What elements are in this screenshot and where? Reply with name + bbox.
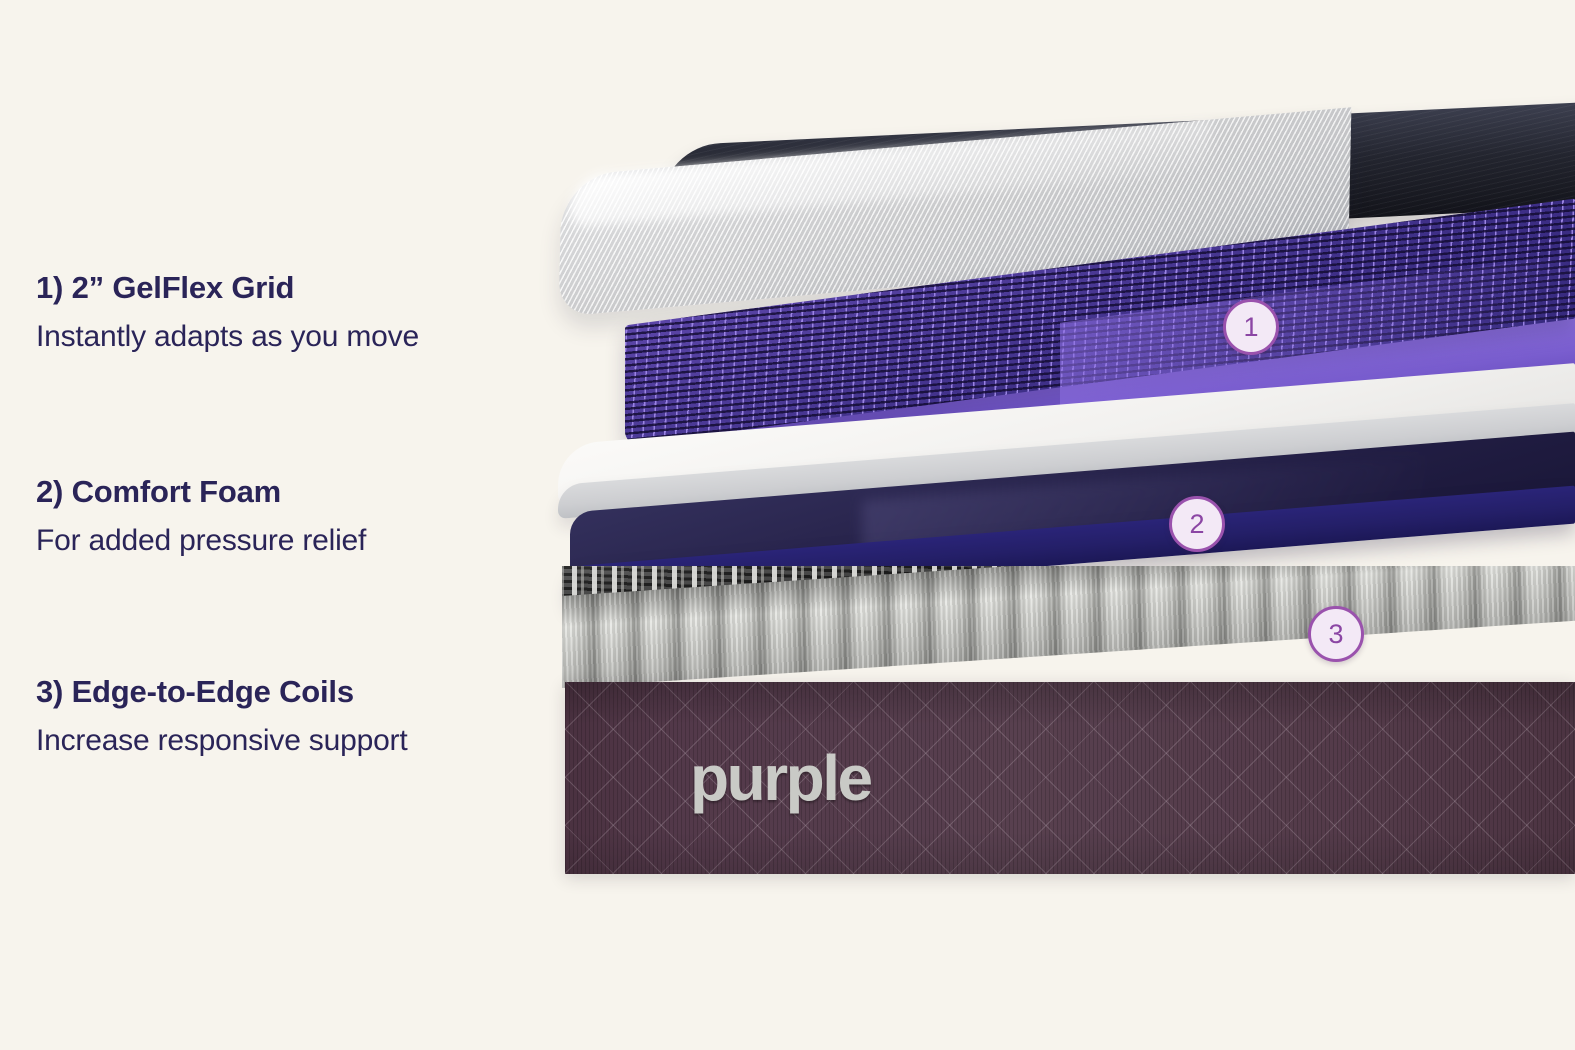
callout-badge-3[interactable]: 3 xyxy=(1308,606,1364,662)
mattress-base: purple xyxy=(565,682,1575,874)
mattress-layers-infographic: 1) 2” GelFlex Grid Instantly adapts as y… xyxy=(0,0,1575,1050)
layer-caption-3: 3) Edge-to-Edge Coils Increase responsiv… xyxy=(36,674,546,759)
layer-3-description: Increase responsive support xyxy=(36,723,546,759)
layer-2-title: 2) Comfort Foam xyxy=(36,474,546,511)
layer-1-description: Instantly adapts as you move xyxy=(36,319,546,355)
mattress-exploded-illustration: purple 1 2 3 xyxy=(540,0,1575,1050)
pocketed-coils-layer xyxy=(562,566,1575,688)
layer-caption-list: 1) 2” GelFlex Grid Instantly adapts as y… xyxy=(0,0,560,1050)
purple-brand-logo: purple xyxy=(690,746,871,810)
callout-badge-2[interactable]: 2 xyxy=(1169,496,1225,552)
layer-2-description: For added pressure relief xyxy=(36,523,546,559)
callout-badge-1[interactable]: 1 xyxy=(1223,299,1279,355)
layer-caption-1: 1) 2” GelFlex Grid Instantly adapts as y… xyxy=(36,270,546,355)
layer-3-title: 3) Edge-to-Edge Coils xyxy=(36,674,546,711)
layer-caption-2: 2) Comfort Foam For added pressure relie… xyxy=(36,474,546,559)
layer-1-title: 1) 2” GelFlex Grid xyxy=(36,270,546,307)
